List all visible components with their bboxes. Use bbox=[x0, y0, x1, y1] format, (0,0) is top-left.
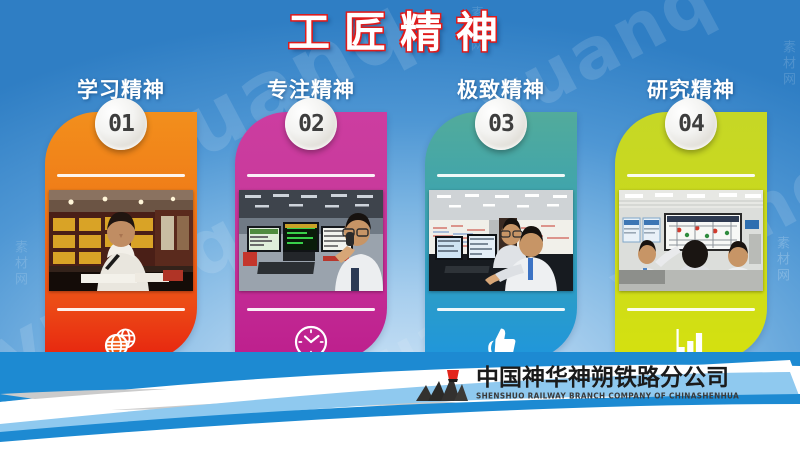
mountain-logo-icon bbox=[414, 368, 470, 404]
divider-bottom bbox=[247, 308, 375, 311]
logo-name-cn: 中国神华神朔铁路分公司 bbox=[476, 365, 729, 391]
card-learning-spirit[interactable]: 01 bbox=[45, 112, 197, 360]
divider-bottom bbox=[627, 308, 755, 311]
number-badge-label: 04 bbox=[678, 111, 704, 137]
divider-top bbox=[57, 174, 185, 177]
number-badge-4: 04 bbox=[665, 98, 717, 150]
number-badge-1: 01 bbox=[95, 98, 147, 150]
divider-top bbox=[627, 174, 755, 177]
number-badge-label: 02 bbox=[298, 111, 324, 137]
watermark-side-text: 素材网 bbox=[10, 240, 29, 288]
page-title: 工匠精神 bbox=[0, 12, 800, 54]
divider-top bbox=[247, 174, 375, 177]
divider-bottom bbox=[437, 308, 565, 311]
number-badge-label: 03 bbox=[488, 111, 514, 137]
company-logo: 中国神华神朔铁路分公司 SHENSHUO RAILWAY BRANCH COMP… bbox=[414, 366, 714, 408]
number-badge-2: 02 bbox=[285, 98, 337, 150]
divider-bottom bbox=[57, 308, 185, 311]
logo-name-en: SHENSHUO RAILWAY BRANCH COMPANY OF CHINA… bbox=[476, 391, 739, 400]
card-excellence-spirit[interactable]: 03 bbox=[425, 112, 577, 360]
card-focus-spirit[interactable]: 02 bbox=[235, 112, 387, 360]
card-photo-3 bbox=[429, 190, 573, 291]
card-photo-1 bbox=[49, 190, 193, 291]
card-research-spirit[interactable]: 04 bbox=[615, 112, 767, 360]
watermark-side-text: 素材网 bbox=[772, 236, 791, 284]
number-badge-3: 03 bbox=[475, 98, 527, 150]
slide-canvas: yuanq yuanq yuanq yuanq yuanq 素材网 素材网 素材… bbox=[0, 0, 800, 450]
card-photo-2 bbox=[239, 190, 383, 291]
divider-top bbox=[437, 174, 565, 177]
card-photo-4 bbox=[619, 190, 763, 291]
number-badge-label: 01 bbox=[108, 111, 134, 137]
